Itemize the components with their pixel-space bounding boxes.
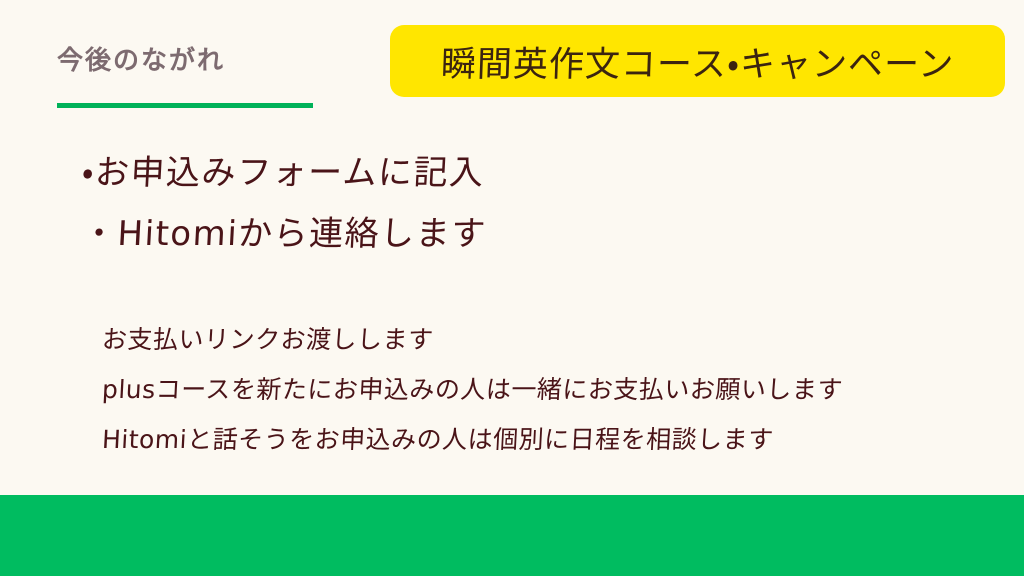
bullet-marker: ・ [81, 214, 119, 254]
section-heading: 今後のながれ [57, 47, 357, 76]
list-item: ・お申込みフォームに記入 [80, 143, 488, 204]
page-title: 今後のながれ [57, 47, 357, 76]
bullet-label: Hitomiから連絡します [116, 214, 487, 254]
footer-green-band [0, 495, 1024, 576]
notes-block: お支払いリンクお渡しします plusコースを新たにお申込みの人は一緒にお支払いお… [102, 315, 843, 465]
note-line: お支払いリンクお渡しします [101, 315, 845, 365]
campaign-badge-label: 瞬間英作文コース・キャンペーン [440, 36, 955, 87]
note-line: plusコースを新たにお申込みの人は一緒にお支払いお願いします [101, 365, 845, 415]
slide-canvas: 今後のながれ 瞬間英作文コース・キャンペーン ・お申込みフォームに記入 ・Hit… [0, 0, 1024, 576]
note-line: Hitomiと話そうをお申込みの人は個別に日程を相談します [101, 415, 845, 465]
steps-bullet-list: ・お申込みフォームに記入 ・Hitomiから連絡します [82, 143, 487, 264]
campaign-badge: 瞬間英作文コース・キャンペーン [390, 25, 1005, 97]
heading-underline-rule [57, 103, 313, 108]
list-item: ・Hitomiから連絡します [80, 204, 488, 265]
bullet-label: お申込みフォームに記入 [94, 153, 486, 193]
